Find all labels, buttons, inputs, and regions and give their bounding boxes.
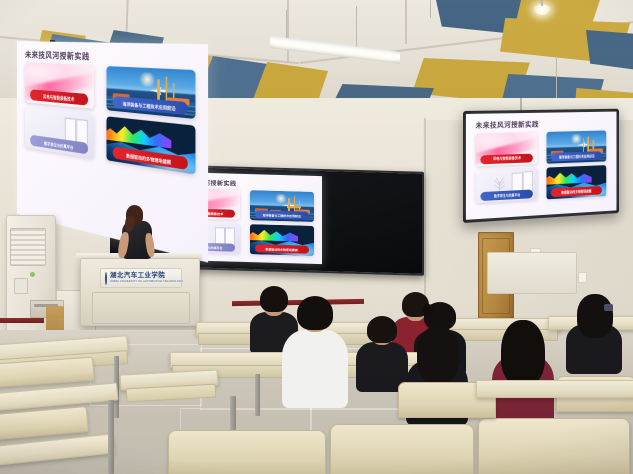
card-label-text: 数字孪生与仿真平台 [494,192,520,198]
right-tv-slide: 未来技风河授新实践 风电与智能装备技术 [466,112,617,220]
wall-chair-rail [0,318,44,323]
slide-card-pink: 风电与智能装备技术 [25,62,94,109]
light-hanger-rod [356,6,357,50]
student-hair [297,296,333,330]
hair-clip-icon [604,304,613,311]
slide-card-wireframe: 数字孪生与仿真平台 [476,168,538,203]
student-hair-long [417,326,459,384]
student-6 [492,320,554,424]
card-label-text: 数据驱动的多物理场建模 [562,189,592,195]
light-hanger-rod [430,0,431,18]
student-3 [356,316,408,390]
right-side-cabinet [487,252,577,294]
ac-status-indicator [30,272,35,277]
port-crane [158,80,160,100]
slide-card-port: 海洋装备与工程技术应用前沿 [250,190,314,222]
ceiling-seam [287,0,289,62]
card-label-text: 海洋装备与工程技术应用前沿 [559,154,595,160]
university-name-english: HUBEI UNIVERSITY OF AUTOMOTIVE TECHNOLOG… [110,280,183,283]
ceiling-baffle-blue [586,30,633,70]
slide-card-wireframe: 数字孪生与仿真平台 [25,107,94,158]
student-hair-long [577,294,613,338]
presenter [120,206,154,262]
slide-title: 未来技风河授新实践 [25,48,90,63]
slide-card-port: 海洋装备与工程技术应用前沿 [106,66,195,119]
power-outlet[interactable] [578,272,587,283]
slide-card-wave: 数据驱动的多物理场建模 [106,116,195,174]
classroom-scene: 未来技风河授新实践 风电与智能装备技术 [0,0,633,474]
slide-card-wave: 数据驱动的多物理场建模 [547,165,607,199]
university-seal-icon [105,272,107,285]
desk-leg [108,400,114,474]
lecture-desk [476,380,633,398]
student-hair-long [501,320,545,386]
seat-backrest[interactable] [168,430,326,474]
podium-nameplate: 湖北汽车工业学院 HUBEI UNIVERSITY OF AUTOMOTIVE … [100,268,182,288]
downlight-stem [541,0,543,6]
desk-leg [255,374,260,416]
slide-title: 未来技风河授新实践 [476,120,539,131]
slide-card-port: 海洋装备与工程技术应用前沿 [547,130,607,163]
student-8 [566,294,622,372]
slide-card-wave: 数据驱动的多物理场建模 [250,224,314,256]
ac-control-panel[interactable] [14,278,28,294]
card-label-text: 海洋装备与工程技术应用前沿 [263,212,301,218]
hair-bun [422,304,434,316]
right-tv-display[interactable]: 未来技风河授新实践 风电与智能装备技术 [463,109,619,223]
podium-front-panel [92,292,190,324]
ac-vent-grille [10,228,46,266]
slide-card-pink: 风电与智能装备技术 [476,132,538,166]
seat-backrest[interactable] [478,418,630,474]
card-label-text: 风电与智能装备技术 [493,156,521,162]
student-hair [367,316,397,343]
port-crane [583,139,584,152]
card-label-text: 数字孪生与仿真平台 [44,139,73,150]
light-hanger-rod [556,58,557,98]
card-label-text: 风电与智能装备技术 [43,93,74,102]
student-torso [282,330,348,408]
student-2 [282,296,348,406]
card-label-text: 数据驱动的多物理场建模 [266,246,298,252]
port-crane [288,199,289,212]
ceiling-seam [405,0,407,44]
seat-backrest[interactable] [330,424,474,474]
left-tv-display[interactable]: 未来技风河授新实践 风电与智能装备技术 [28,71,150,216]
